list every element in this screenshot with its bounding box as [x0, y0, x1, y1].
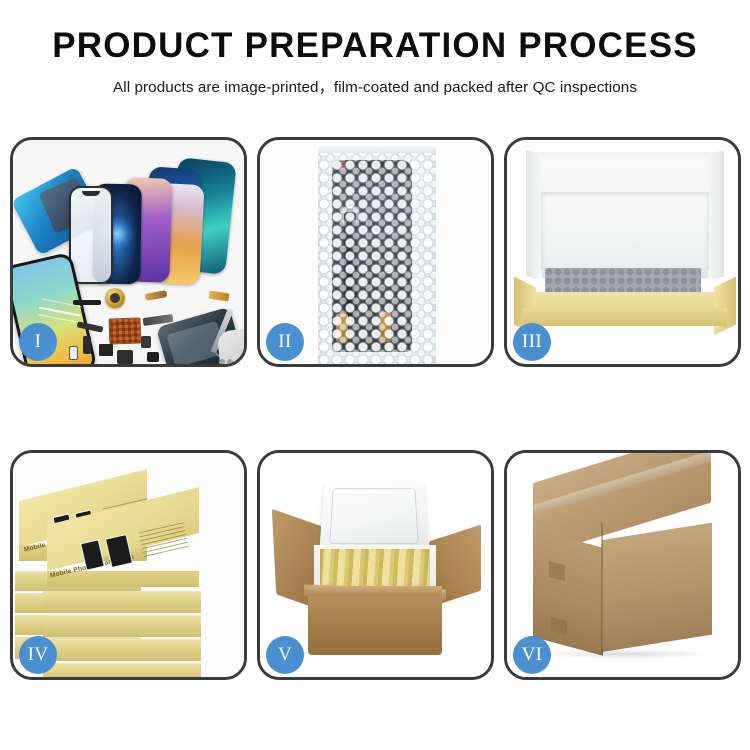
yellow-box-front: [523, 308, 727, 326]
step-badge-6: VI: [513, 636, 551, 674]
tempered-glass-protector: [69, 186, 113, 284]
step-badge-1: I: [19, 323, 57, 361]
step-panel-3: III: [504, 137, 741, 367]
part-chip-a: [83, 336, 91, 354]
carton-corner-seam: [601, 523, 603, 653]
box-layer: [43, 663, 201, 677]
carton-left-face: [533, 529, 603, 656]
speaker-coil-icon: [105, 288, 125, 308]
carton-front-wall: [308, 593, 442, 655]
steps-grid: I II: [10, 137, 741, 680]
step-panel-2: II: [257, 137, 494, 367]
part-sim-tray: [69, 346, 78, 360]
step-badge-3: III: [513, 323, 551, 361]
box-layer: [43, 615, 201, 637]
screws-icon: [219, 358, 237, 364]
box-layer: [43, 591, 201, 613]
bag-seal: [318, 146, 436, 153]
part-strip-a: [73, 300, 101, 305]
carton-shadow: [537, 649, 715, 659]
copper-shield-icon: [109, 317, 142, 344]
page-subtitle: All products are image-printed，film-coat…: [0, 75, 750, 97]
step-badge-5: V: [266, 636, 304, 674]
step-badge-2: II: [266, 323, 304, 361]
bubble-wrap-bag: [318, 146, 436, 364]
step-panel-6: VI: [504, 450, 741, 680]
step-panel-5: V: [257, 450, 494, 680]
carton-right-face: [602, 523, 712, 652]
part-chip-d: [141, 336, 151, 348]
bubble-texture-overlay: [318, 146, 436, 364]
foam-sheet: [541, 192, 709, 270]
step-panel-1: I: [10, 137, 247, 367]
part-chip-b: [99, 344, 113, 356]
part-chip-c: [117, 350, 133, 364]
product-preparation-infographic: PRODUCT PREPARATION PROCESS All products…: [0, 0, 750, 750]
step-panel-4: Mobile Phone Spare Parts Mobile Phone Sp…: [10, 450, 247, 680]
box-layer: [43, 639, 201, 661]
part-chip-e: [147, 352, 159, 362]
page-title: PRODUCT PREPARATION PROCESS: [0, 28, 750, 65]
styrofoam-lid: [319, 480, 429, 553]
header: PRODUCT PREPARATION PROCESS All products…: [0, 28, 750, 97]
step-badge-4: IV: [19, 636, 57, 674]
